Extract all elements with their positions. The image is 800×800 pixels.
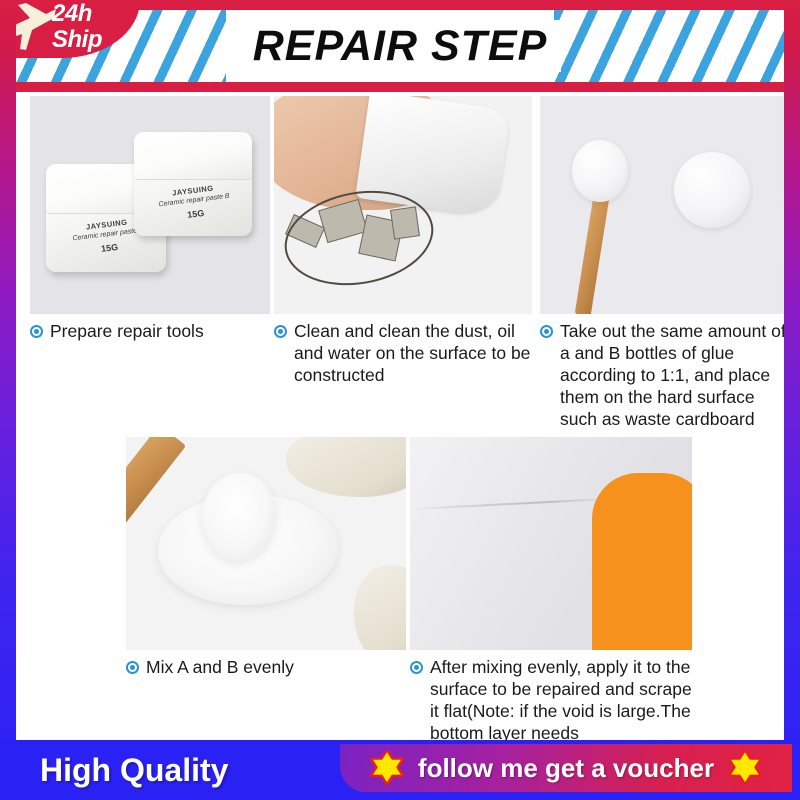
bullet-icon [540, 325, 553, 338]
voucher-banner[interactable]: follow me get a voucher [340, 744, 792, 792]
step-5-caption-text: After mixing evenly, apply it to the sur… [430, 657, 692, 740]
ship-badge-text: 24h Ship [52, 1, 134, 53]
bullet-icon [30, 325, 43, 338]
jar-b: JAYSUING Ceramic repair paste B 15G [134, 132, 252, 236]
ship-badge-line2: Ship [52, 27, 134, 53]
high-quality-label: High Quality [40, 740, 228, 800]
step-3-caption: Take out the same amount of a and B bott… [540, 314, 784, 430]
step-3-caption-text: Take out the same amount of a and B bott… [560, 321, 784, 429]
left-gradient-border [0, 0, 16, 800]
page-title-text: REPAIR STEP [239, 20, 562, 72]
step-4: Mix A and B evenly [126, 437, 406, 678]
step-2: Clean and clean the dust, oil and water … [274, 96, 532, 386]
step-4-caption: Mix A and B evenly [126, 650, 406, 678]
bullet-icon [126, 661, 139, 674]
glue-portions-photo [540, 96, 784, 314]
jar-b-label: JAYSUING Ceramic repair paste B 15G [142, 180, 248, 225]
product-infographic: REPAIR STEP 24h Ship JAYSUING [0, 0, 800, 800]
star-icon [728, 751, 762, 785]
step-5: After mixing evenly, apply it to the sur… [410, 437, 700, 740]
step-1: JAYSUING Ceramic repair paste A 15G JAYS… [30, 96, 270, 342]
gloved-hand [354, 565, 406, 650]
jar-b-lid [134, 132, 252, 180]
paste-portion [674, 152, 750, 228]
step-1-caption: Prepare repair tools [30, 314, 270, 342]
wooden-stick [575, 195, 610, 314]
gloved-hand [286, 437, 406, 497]
voucher-text: follow me get a voucher [418, 753, 714, 784]
footer-bar: High Quality follow me get a voucher [0, 740, 800, 800]
step-2-caption: Clean and clean the dust, oil and water … [274, 314, 532, 386]
paste-on-stick [572, 140, 628, 202]
ship-badge: 24h Ship [0, 0, 140, 58]
star-icon [370, 751, 404, 785]
repair-jars-photo: JAYSUING Ceramic repair paste A 15G JAYS… [30, 96, 270, 314]
step-4-caption-text: Mix A and B evenly [146, 657, 294, 677]
ship-badge-line1: 24h [52, 1, 134, 27]
applying-paste-photo [410, 437, 692, 650]
bullet-icon [410, 661, 423, 674]
steps-content: JAYSUING Ceramic repair paste A 15G JAYS… [16, 92, 784, 740]
step-5-caption: After mixing evenly, apply it to the sur… [410, 650, 700, 740]
cleaning-surface-photo [274, 96, 532, 314]
step-2-caption-text: Clean and clean the dust, oil and water … [294, 321, 530, 385]
step-1-caption-text: Prepare repair tools [50, 321, 204, 341]
right-gradient-border [784, 0, 800, 800]
step-3: Take out the same amount of a and B bott… [540, 96, 784, 430]
mixing-paste-photo [126, 437, 406, 650]
bullet-icon [274, 325, 287, 338]
orange-scraper [592, 473, 692, 650]
